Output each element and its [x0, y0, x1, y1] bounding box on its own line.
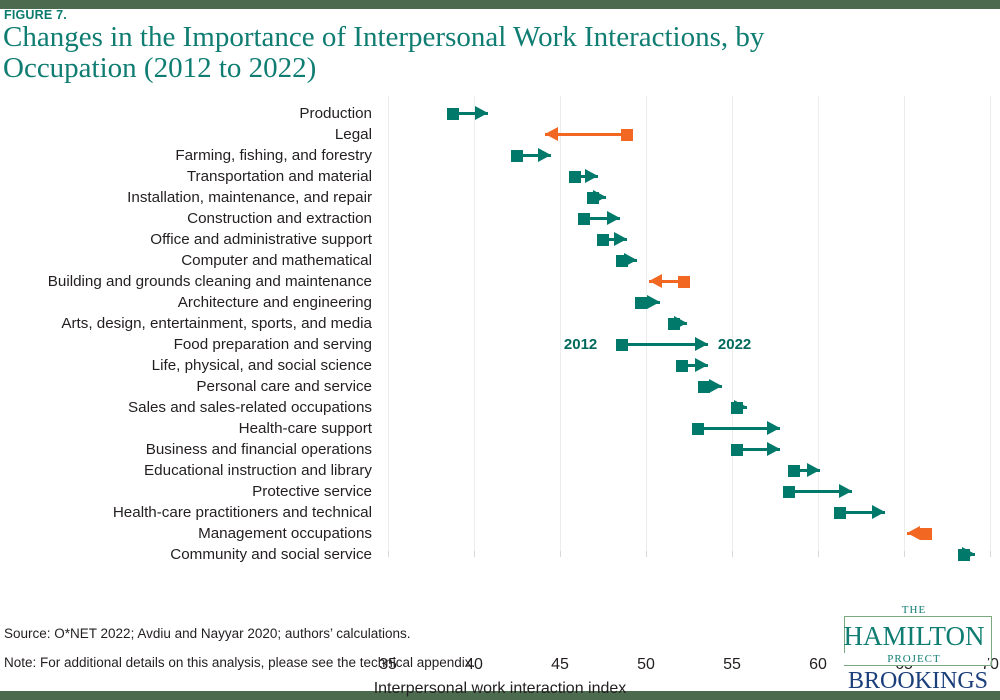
- logo-the: THE: [840, 604, 988, 616]
- end-arrowhead-2022: [585, 169, 598, 183]
- x-tick-label-60: 60: [788, 656, 848, 674]
- chart-row: [0, 106, 1000, 127]
- chart-row: [0, 400, 1000, 421]
- chart-row: [0, 505, 1000, 526]
- hamilton-project-brookings-logo: THE HAMILTON PROJECT BROOKINGS: [840, 612, 996, 690]
- start-marker-2012: [676, 360, 688, 372]
- chart-row: [0, 337, 1000, 358]
- figure-number: FIGURE 7.: [4, 8, 67, 22]
- end-arrowhead-2022: [709, 379, 722, 393]
- chart-row: [0, 526, 1000, 547]
- start-marker-2012: [834, 507, 846, 519]
- start-marker-2012: [731, 444, 743, 456]
- chart-row: [0, 169, 1000, 190]
- end-arrowhead-2022: [614, 232, 627, 246]
- chart-row: [0, 442, 1000, 463]
- end-arrowhead-2022: [734, 400, 747, 414]
- end-arrowhead-2022: [624, 253, 637, 267]
- chart-row: [0, 463, 1000, 484]
- start-marker-2012: [788, 465, 800, 477]
- methodology-note: Note: For additional details on this ana…: [4, 655, 475, 670]
- chart-row: [0, 127, 1000, 148]
- chart-row: [0, 547, 1000, 568]
- chart-row: [0, 379, 1000, 400]
- start-marker-2012: [578, 213, 590, 225]
- source-note: Source: O*NET 2022; Avdiu and Nayyar 202…: [4, 626, 411, 641]
- start-marker-2012: [597, 234, 609, 246]
- end-arrowhead-2022: [538, 148, 551, 162]
- start-marker-2012: [511, 150, 523, 162]
- start-marker-2012: [920, 528, 932, 540]
- top-accent-bar: [0, 0, 1000, 9]
- start-marker-2012: [635, 297, 647, 309]
- chart-row: [0, 148, 1000, 169]
- chart-row: [0, 421, 1000, 442]
- end-arrowhead-2022: [545, 127, 558, 141]
- end-arrowhead-2022: [839, 484, 852, 498]
- start-marker-2012: [678, 276, 690, 288]
- logo-brookings: BROOKINGS: [840, 668, 996, 695]
- chart-plot-area: ProductionLegalFarming, fishing, and for…: [0, 96, 1000, 556]
- end-arrowhead-2022: [872, 505, 885, 519]
- end-arrowhead-2022: [767, 442, 780, 456]
- chart-row: [0, 190, 1000, 211]
- end-arrowhead-2022: [695, 358, 708, 372]
- end-arrowhead-2022: [962, 547, 975, 561]
- chart-row: [0, 211, 1000, 232]
- chart-row: [0, 484, 1000, 505]
- end-arrowhead-2022: [695, 337, 708, 351]
- chart-row: [0, 295, 1000, 316]
- end-arrowhead-2022: [674, 316, 687, 330]
- start-marker-2012: [447, 108, 459, 120]
- end-arrowhead-2022: [907, 526, 920, 540]
- end-arrowhead-2022: [767, 421, 780, 435]
- end-arrowhead-2022: [607, 211, 620, 225]
- page-title: Changes in the Importance of Interperson…: [3, 22, 903, 84]
- logo-hamilton: HAMILTON: [840, 622, 988, 650]
- chart-row: [0, 253, 1000, 274]
- chart-row: [0, 232, 1000, 253]
- end-arrowhead-2022: [649, 274, 662, 288]
- chart-row: [0, 358, 1000, 379]
- end-arrowhead-2022: [475, 106, 488, 120]
- end-arrowhead-2022: [593, 190, 606, 204]
- chart-row: [0, 316, 1000, 337]
- x-tick-label-45: 45: [530, 656, 590, 674]
- x-tick-label-50: 50: [616, 656, 676, 674]
- end-arrowhead-2022: [807, 463, 820, 477]
- start-marker-2012: [569, 171, 581, 183]
- chart-row: [0, 274, 1000, 295]
- logo-project: PROJECT: [840, 653, 988, 665]
- start-marker-2012: [692, 423, 704, 435]
- inline-legend-2012: 2012: [564, 336, 597, 353]
- x-tick-label-55: 55: [702, 656, 762, 674]
- inline-legend-2022: 2022: [718, 336, 751, 353]
- end-arrowhead-2022: [647, 295, 660, 309]
- start-marker-2012: [621, 129, 633, 141]
- start-marker-2012: [783, 486, 795, 498]
- start-marker-2012: [616, 339, 628, 351]
